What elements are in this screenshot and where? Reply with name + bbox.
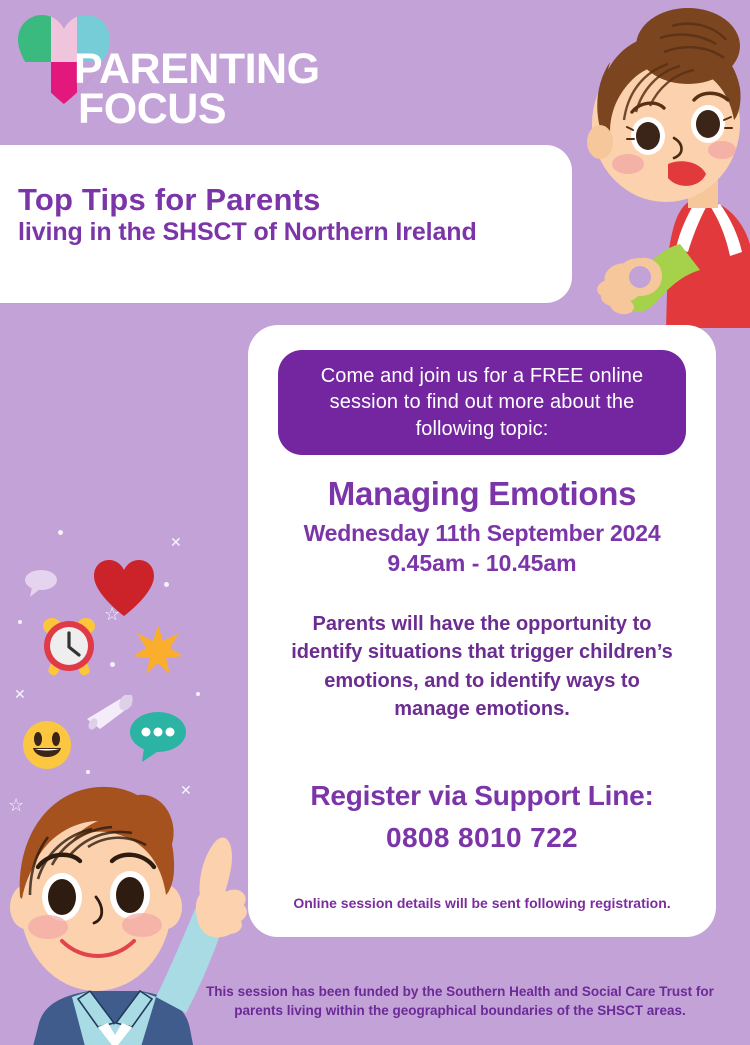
sparkle-dot xyxy=(164,582,169,587)
brand-wordmark: PARENTING FOCUS xyxy=(74,50,320,129)
page-title: Top Tips for Parents xyxy=(18,183,558,216)
register-phone-number[interactable]: 0808 8010 722 xyxy=(248,822,716,854)
sparkle-dot xyxy=(58,530,63,535)
brand-name-line2: FOCUS xyxy=(78,90,320,130)
star-burst-icon xyxy=(132,624,184,676)
page-subtitle: living in the SHSCT of Northern Ireland xyxy=(18,218,558,247)
poster-root: PARENTING FOCUS xyxy=(0,0,750,1045)
session-time: 9.45am - 10.45am xyxy=(248,550,716,577)
sparkle-dot xyxy=(18,620,22,624)
title-card: Top Tips for Parents living in the SHSCT… xyxy=(0,145,572,303)
alarm-clock-icon xyxy=(38,615,100,677)
session-description: Parents will have the opportunity to ide… xyxy=(284,610,680,724)
sparkle-x-icon: ✕ xyxy=(14,686,26,703)
star-outline-icon: ☆ xyxy=(104,604,120,625)
brand-name-line1: PARENTING xyxy=(74,50,320,90)
register-label: Register via Support Line: xyxy=(248,780,716,812)
woman-ok-gesture-illustration xyxy=(548,8,750,328)
invitation-banner-text: Come and join us for a FREE online sessi… xyxy=(278,363,686,442)
session-date: Wednesday 11th September 2024 xyxy=(248,520,716,547)
registration-note: Online session details will be sent foll… xyxy=(268,895,696,911)
sparkle-dot xyxy=(196,692,200,696)
invitation-banner: Come and join us for a FREE online sessi… xyxy=(278,350,686,455)
small-speech-bubble-icon xyxy=(24,568,58,598)
sparkle-dot xyxy=(110,662,115,667)
main-content-card: Come and join us for a FREE online sessi… xyxy=(248,325,716,937)
sparkle-x-icon: ✕ xyxy=(170,534,182,551)
session-title: Managing Emotions xyxy=(248,475,716,513)
brand-logo: PARENTING FOCUS xyxy=(14,10,344,135)
funding-footer: This session has been funded by the Sout… xyxy=(180,982,740,1020)
heart-icon xyxy=(92,558,156,618)
